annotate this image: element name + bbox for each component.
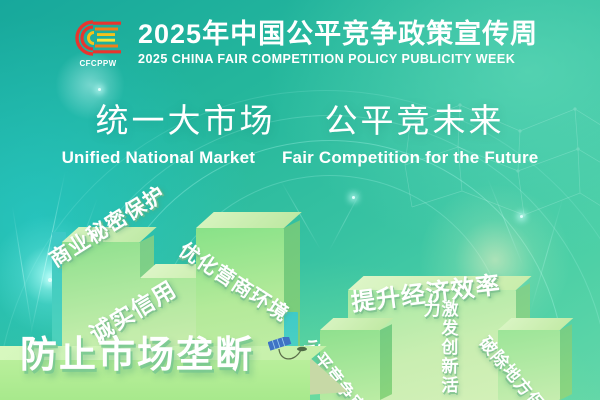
poster-header: CFCPPW 2025年中国公平竞争政策宣传周 2025 CHINA FAIR … bbox=[70, 18, 538, 68]
solar-street-lamp-icon bbox=[268, 337, 314, 367]
slogan-en: Unified National Market Fair Competition… bbox=[0, 148, 600, 168]
slogan-en-right: Fair Competition for the Future bbox=[282, 148, 538, 167]
cfcppw-arcs-logo-icon bbox=[71, 18, 125, 58]
city-headline: 防止市场垄断 bbox=[20, 324, 254, 378]
slogan-cn-right: 公平竞未来 bbox=[325, 101, 505, 140]
header-title-en: 2025 CHINA FAIR COMPETITION POLICY PUBLI… bbox=[138, 52, 538, 66]
logo-abbrev: CFCPPW bbox=[79, 59, 116, 68]
block-label-innovation-vitality: 激发创新活力 bbox=[420, 300, 455, 398]
header-title-cn: 2025年中国公平竞争政策宣传周 bbox=[138, 20, 538, 49]
poster-canvas: CFCPPW 2025年中国公平竞争政策宣传周 2025 CHINA FAIR … bbox=[0, 0, 600, 400]
header-title-block: 2025年中国公平竞争政策宣传周 2025 CHINA FAIR COMPETI… bbox=[138, 20, 538, 66]
slogan-cn: 统一大市场 公平竞未来 bbox=[0, 100, 600, 141]
slogan-cn-left: 统一大市场 bbox=[96, 101, 276, 140]
brand-logo: CFCPPW bbox=[70, 18, 126, 68]
slogan-en-left: Unified National Market bbox=[62, 148, 256, 167]
slogan-block: 统一大市场 公平竞未来 Unified National Market Fair… bbox=[0, 100, 600, 168]
